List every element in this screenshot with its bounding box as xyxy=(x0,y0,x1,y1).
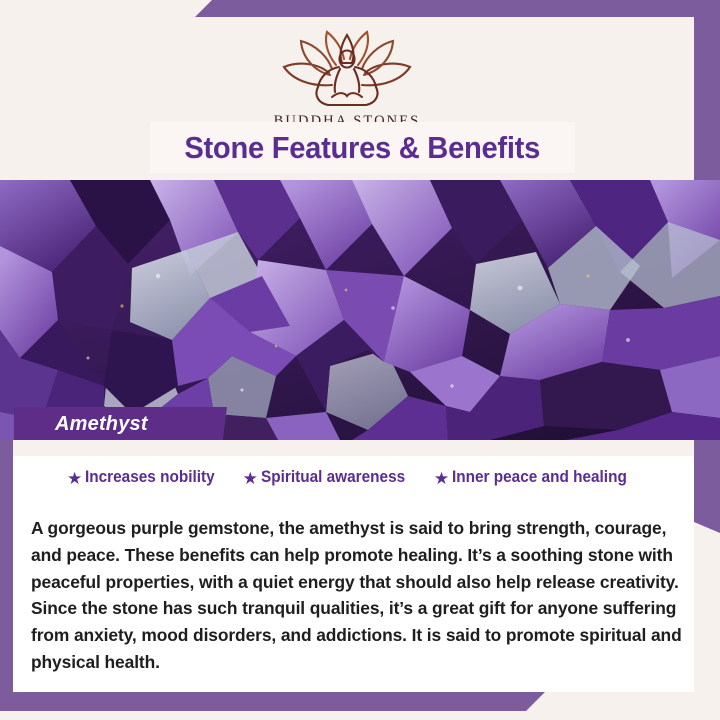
lotus-meditation-icon xyxy=(272,29,422,111)
content-panel: ★ Increases nobility ★ Spiritual awarene… xyxy=(13,440,694,692)
right-accent-border-top xyxy=(694,17,720,180)
page-title: Stone Features & Benefits xyxy=(185,130,541,166)
bottom-accent-band xyxy=(0,692,545,711)
benefit-label: Inner peace and healing xyxy=(452,468,627,487)
title-plaque: Stone Features & Benefits xyxy=(150,122,575,173)
stone-features-poster: BUDDHA STONES Stone Features & Benefits xyxy=(0,0,720,720)
star-icon: ★ xyxy=(243,470,258,487)
benefit-label: Increases nobility xyxy=(85,468,215,487)
stone-name-banner: Amethyst xyxy=(14,407,227,441)
stone-description: A gorgeous purple gemstone, the amethyst… xyxy=(31,515,684,675)
stone-name: Amethyst xyxy=(55,413,148,436)
hero-image-amethyst xyxy=(0,180,720,440)
benefits-list: ★ Increases nobility ★ Spiritual awarene… xyxy=(13,468,694,487)
star-icon: ★ xyxy=(67,470,82,487)
panel-top-tint xyxy=(13,440,694,456)
benefit-item: ★ Spiritual awareness xyxy=(243,468,416,487)
top-accent-band xyxy=(195,0,720,17)
left-accent-border xyxy=(0,440,13,692)
right-accent-border-bottom xyxy=(694,440,720,533)
benefit-item: ★ Increases nobility xyxy=(67,468,225,487)
benefit-item: ★ Inner peace and healing xyxy=(434,468,640,487)
amethyst-crystal-graphic xyxy=(0,180,720,440)
star-icon: ★ xyxy=(434,470,449,487)
brand-logo: BUDDHA STONES xyxy=(252,29,442,130)
benefit-label: Spiritual awareness xyxy=(261,468,405,487)
